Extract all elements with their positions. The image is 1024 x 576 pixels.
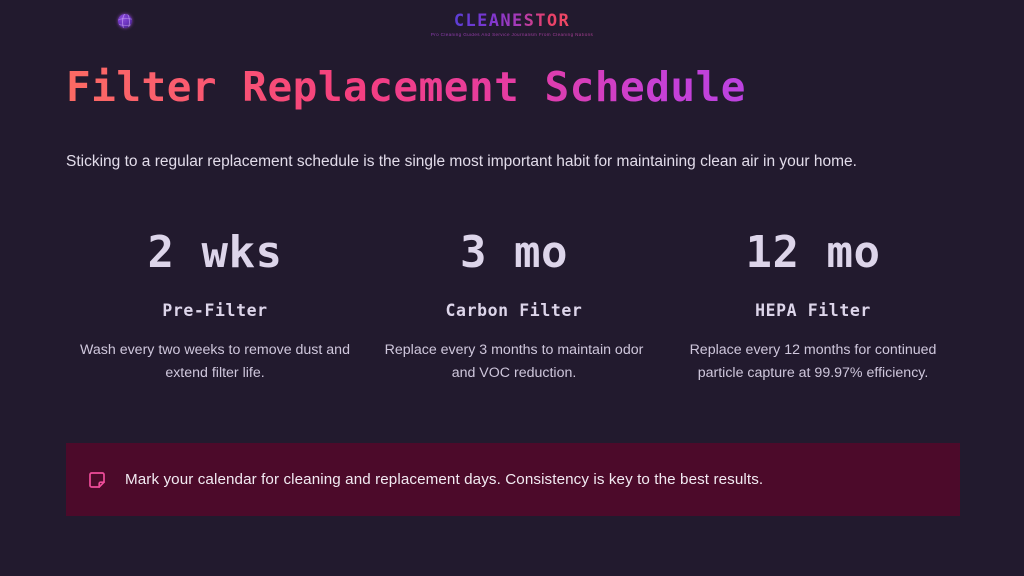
callout-text: Mark your calendar for cleaning and repl… bbox=[125, 469, 763, 490]
brand-name: CLEANESTOR bbox=[454, 13, 570, 30]
stat-label: HEPA Filter bbox=[664, 301, 962, 320]
stat-description: Replace every 3 months to maintain odor … bbox=[365, 339, 663, 385]
slide-root: CLEANESTOR Pro Cleaning Guides And Servi… bbox=[0, 0, 1024, 576]
globe-icon bbox=[118, 14, 132, 28]
stats-row: 2 wks Pre-Filter Wash every two weeks to… bbox=[66, 228, 962, 385]
stat-label: Pre-Filter bbox=[66, 301, 364, 320]
stat-value: 3 mo bbox=[365, 228, 663, 279]
stat-card-pre-filter: 2 wks Pre-Filter Wash every two weeks to… bbox=[66, 228, 364, 385]
sticky-note-icon bbox=[87, 470, 107, 490]
stat-label: Carbon Filter bbox=[365, 301, 663, 320]
stat-card-carbon-filter: 3 mo Carbon Filter Replace every 3 month… bbox=[365, 228, 663, 385]
callout-banner: Mark your calendar for cleaning and repl… bbox=[66, 443, 960, 516]
stat-value: 2 wks bbox=[66, 228, 364, 279]
page-title: Filter Replacement Schedule bbox=[66, 64, 746, 111]
stat-description: Wash every two weeks to remove dust and … bbox=[66, 339, 364, 385]
brand-tagline: Pro Cleaning Guides And Service Journali… bbox=[0, 33, 1024, 38]
stat-card-hepa-filter: 12 mo HEPA Filter Replace every 12 month… bbox=[664, 228, 962, 385]
brand-logo: CLEANESTOR Pro Cleaning Guides And Servi… bbox=[0, 13, 1024, 38]
intro-paragraph: Sticking to a regular replacement schedu… bbox=[66, 147, 928, 177]
stat-description: Replace every 12 months for continued pa… bbox=[664, 339, 962, 385]
stat-value: 12 mo bbox=[664, 228, 962, 279]
